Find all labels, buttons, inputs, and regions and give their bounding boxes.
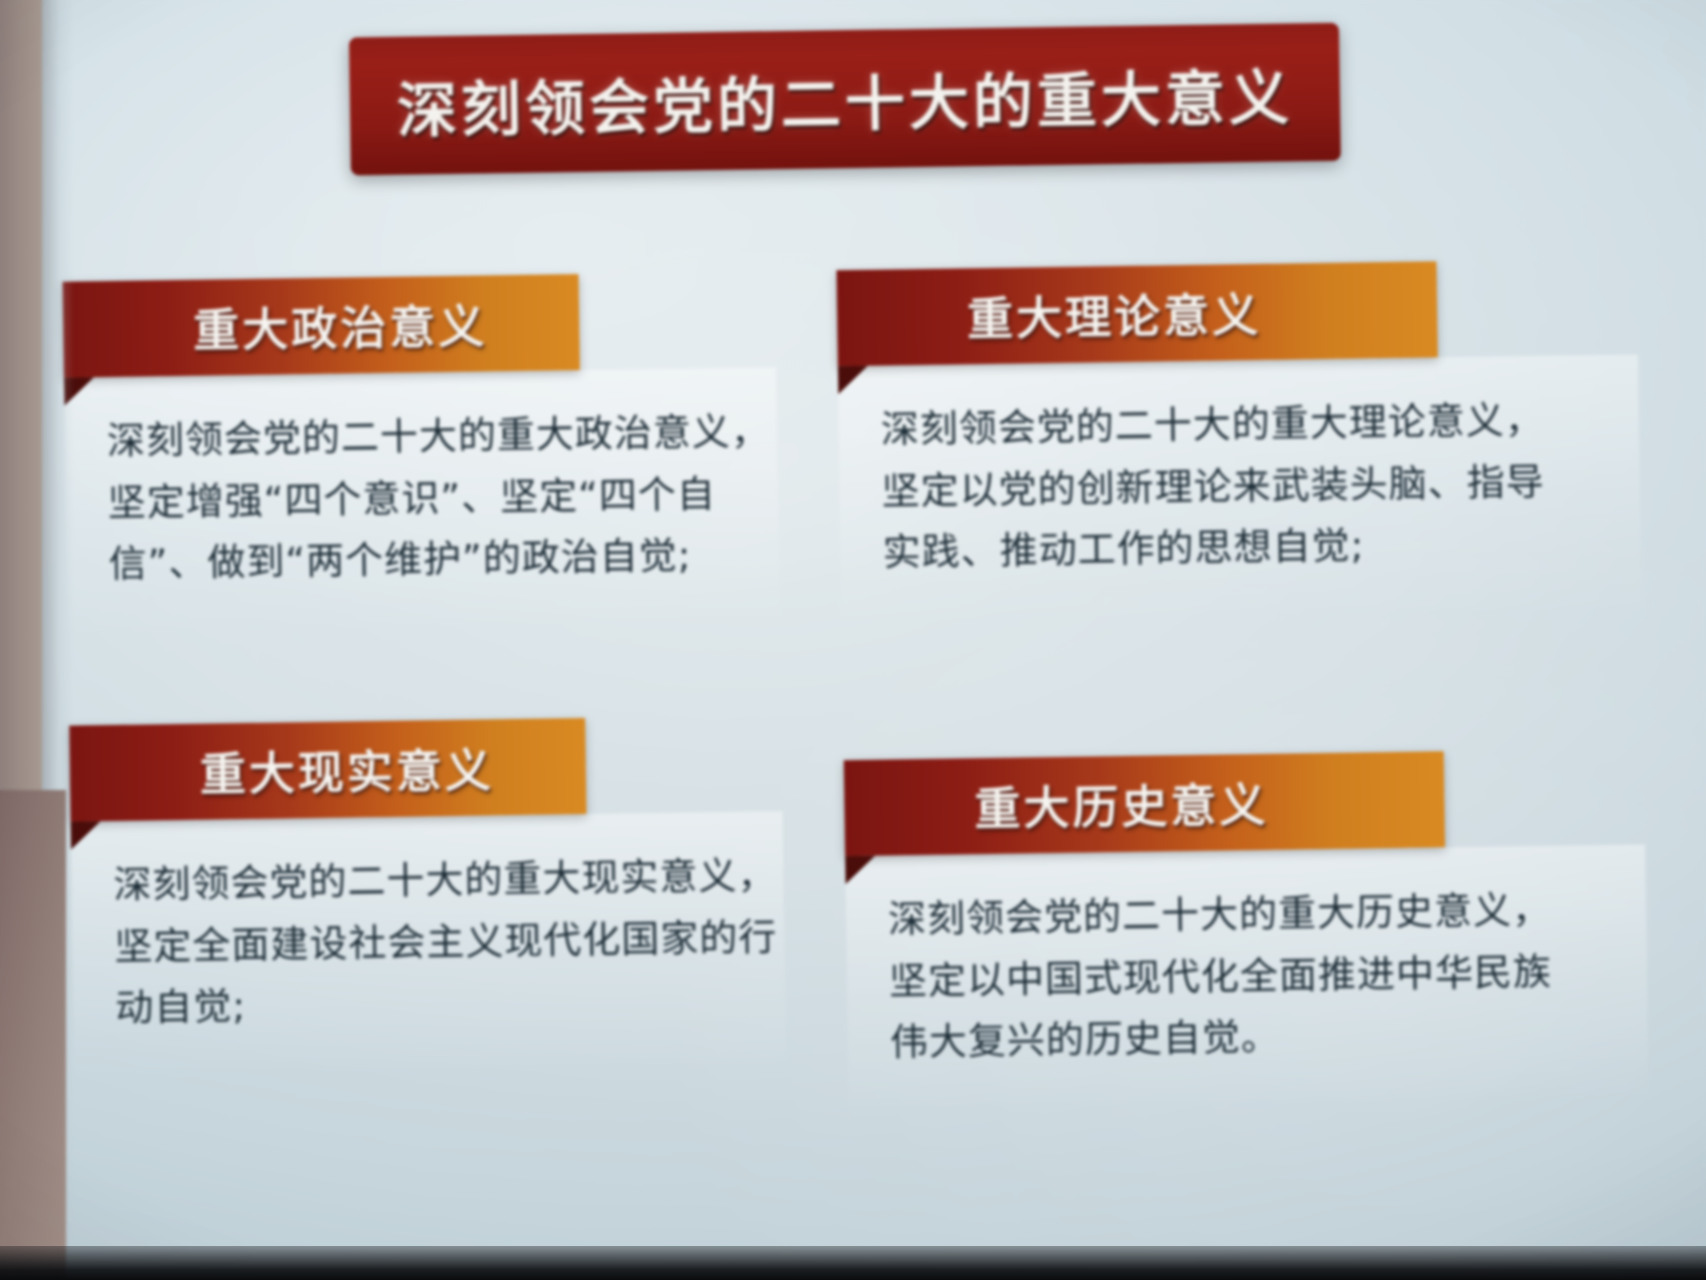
card-reality-line-2: 坚定全面建设社会主义现代化国家的行: [114, 907, 759, 978]
card-reality: 重大现实意义 深刻领会党的二十大的重大现实意义， 坚定全面建设社会主义现代化国家…: [69, 715, 786, 1072]
card-reality-line-1: 深刻领会党的二十大的重大现实意义，: [113, 845, 758, 916]
card-history-header-label: 重大历史意义: [974, 769, 1269, 839]
card-political: 重大政治意义 深刻领会党的二十大的重大政治意义， 坚定增强“四个意识”、坚定“四…: [63, 271, 780, 628]
card-reality-body: 深刻领会党的二十大的重大现实意义， 坚定全面建设社会主义现代化国家的行 动自觉;: [71, 811, 787, 1072]
card-political-header: 重大政治意义: [63, 274, 580, 378]
ribbon-fold-icon: [838, 366, 868, 394]
card-political-line-1: 深刻领会党的二十大的重大政治意义，: [106, 402, 751, 473]
card-political-line-3: 信”、做到“两个维护”的政治自觉;: [108, 525, 753, 596]
card-theory-header: 重大理论意义: [836, 261, 1437, 366]
card-history-line-3: 伟大复兴的历史自觉。: [889, 1002, 1622, 1074]
photo-bottom-shadow: [0, 1246, 1706, 1280]
card-political-line-2: 坚定增强“四个意识”、坚定“四个自: [107, 463, 752, 534]
card-reality-line-3: 动自觉;: [115, 969, 760, 1040]
card-history-line-1: 深刻领会党的二十大的重大历史意义，: [888, 879, 1621, 951]
card-political-body: 深刻领会党的二十大的重大政治意义， 坚定增强“四个意识”、坚定“四个自 信”、做…: [64, 367, 780, 628]
ribbon-fold-icon: [71, 821, 101, 849]
card-theory-line-2: 坚定以党的创新理论来武装头脑、指导: [881, 450, 1614, 522]
presentation-slide: 深刻领会党的二十大的重大意义 重大政治意义 深刻领会党的二十大的重大政治意义， …: [0, 0, 1706, 1280]
card-reality-header: 重大现实意义: [69, 718, 586, 822]
card-reality-header-label: 重大现实意义: [199, 734, 494, 804]
card-theory-line-3: 实践、推动工作的思想自觉;: [882, 512, 1615, 584]
card-theory-line-1: 深刻领会党的二十大的重大理论意义，: [880, 389, 1613, 461]
slide-title: 深刻领会党的二十大的重大意义: [396, 49, 1293, 149]
card-political-header-label: 重大政治意义: [193, 290, 488, 360]
card-history-body: 深刻领会党的二十大的重大历史意义， 坚定以中国式现代化全面推进中华民族 伟大复兴…: [845, 844, 1649, 1106]
card-theory: 重大理论意义 深刻领会党的二十大的重大理论意义， 坚定以党的创新理论来武装头脑、…: [836, 260, 1553, 617]
wall-left-lower-strip: [0, 790, 66, 1280]
ribbon-fold-icon: [845, 856, 875, 884]
card-theory-body: 深刻领会党的二十大的重大理论意义， 坚定以党的创新理论来武装头脑、指导 实践、推…: [838, 354, 1642, 616]
card-history-header: 重大历史意义: [844, 751, 1445, 856]
card-history-line-2: 坚定以中国式现代化全面推进中华民族: [889, 940, 1622, 1012]
card-theory-header-label: 重大理论意义: [967, 279, 1262, 349]
card-history: 重大历史意义 深刻领会党的二十大的重大历史意义， 坚定以中国式现代化全面推进中华…: [844, 750, 1561, 1107]
slide-photo: 深刻领会党的二十大的重大意义 重大政治意义 深刻领会党的二十大的重大政治意义， …: [0, 0, 1706, 1280]
slide-title-banner: 深刻领会党的二十大的重大意义: [349, 23, 1341, 176]
